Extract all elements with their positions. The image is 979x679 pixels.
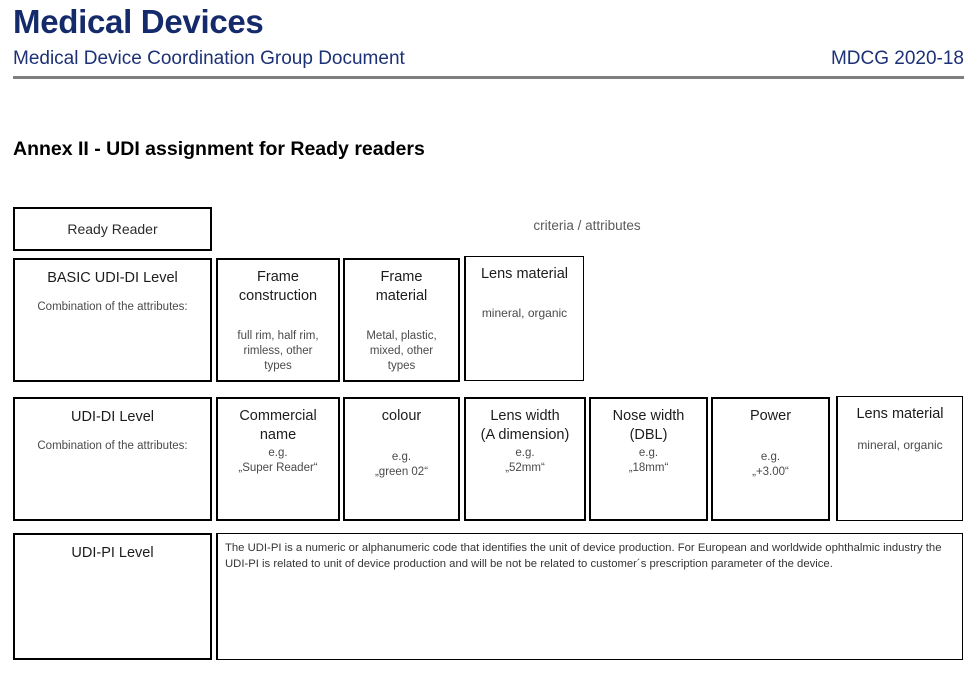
- attribute-eg-label: e.g.: [591, 446, 706, 461]
- attribute-eg-label: e.g.: [345, 450, 458, 465]
- level-subtitle: Combination of the attributes:: [15, 300, 210, 315]
- attribute-title: Lens material: [466, 265, 583, 284]
- attribute-example: „Super Reader“: [218, 461, 338, 476]
- attribute-values: full rim, half rim,rimless, othertypes: [218, 329, 338, 375]
- attribute-box-lens-material-basic: Lens material mineral, organic: [464, 256, 584, 381]
- level-box-basic-udi-di: BASIC UDI-DI Level Combination of the at…: [13, 258, 212, 382]
- level-title: BASIC UDI-DI Level: [15, 269, 210, 287]
- attribute-title: Commercialname: [218, 407, 338, 444]
- attribute-title: Lens material: [838, 405, 962, 424]
- attribute-title: Power: [713, 407, 828, 426]
- criteria-attributes-label: criteria / attributes: [486, 218, 688, 233]
- attribute-box-power: Power e.g. „+3.00“: [711, 397, 830, 521]
- level-box-udi-di: UDI-DI Level Combination of the attribut…: [13, 397, 212, 521]
- attribute-values: mineral, organic: [838, 438, 962, 454]
- attribute-values: Metal, plastic,mixed, othertypes: [345, 329, 458, 375]
- attribute-example: „green 02“: [345, 465, 458, 480]
- attribute-box-colour: colour e.g. „green 02“: [343, 397, 460, 521]
- attribute-title: Lens width(A dimension): [466, 407, 584, 444]
- attribute-box-frame-construction: Frameconstruction full rim, half rim,rim…: [216, 258, 340, 382]
- attribute-example: „+3.00“: [713, 465, 828, 480]
- attribute-box-lens-material-udi-di: Lens material mineral, organic: [836, 396, 963, 521]
- attribute-example: „52mm“: [466, 461, 584, 476]
- attribute-eg-label: e.g.: [466, 446, 584, 461]
- level-subtitle: Combination of the attributes:: [15, 439, 210, 454]
- attribute-box-frame-material: Framematerial Metal, plastic,mixed, othe…: [343, 258, 460, 382]
- attribute-box-nose-width: Nose width(DBL) e.g. „18mm“: [589, 397, 708, 521]
- attribute-title: Framematerial: [345, 268, 458, 305]
- device-box: Ready Reader: [13, 207, 212, 251]
- attribute-example: „18mm“: [591, 461, 706, 476]
- attribute-eg-label: e.g.: [218, 446, 338, 461]
- attribute-title: Frameconstruction: [218, 268, 338, 305]
- attribute-title: Nose width(DBL): [591, 407, 706, 444]
- udi-pi-paragraph: The UDI-PI is a numeric or alphanumeric …: [225, 540, 954, 572]
- device-box-label: Ready Reader: [15, 209, 210, 249]
- level-box-udi-pi: UDI-PI Level: [13, 533, 212, 660]
- udi-pi-description-box: The UDI-PI is a numeric or alphanumeric …: [216, 533, 963, 660]
- attribute-eg-label: e.g.: [713, 450, 828, 465]
- attribute-box-lens-width: Lens width(A dimension) e.g. „52mm“: [464, 397, 586, 521]
- level-title: UDI-DI Level: [15, 408, 210, 426]
- attribute-title: colour: [345, 407, 458, 426]
- udi-assignment-diagram: Ready Reader criteria / attributes BASIC…: [0, 0, 979, 679]
- attribute-values: mineral, organic: [466, 306, 583, 322]
- attribute-box-commercial-name: Commercialname e.g. „Super Reader“: [216, 397, 340, 521]
- level-title: UDI-PI Level: [15, 544, 210, 562]
